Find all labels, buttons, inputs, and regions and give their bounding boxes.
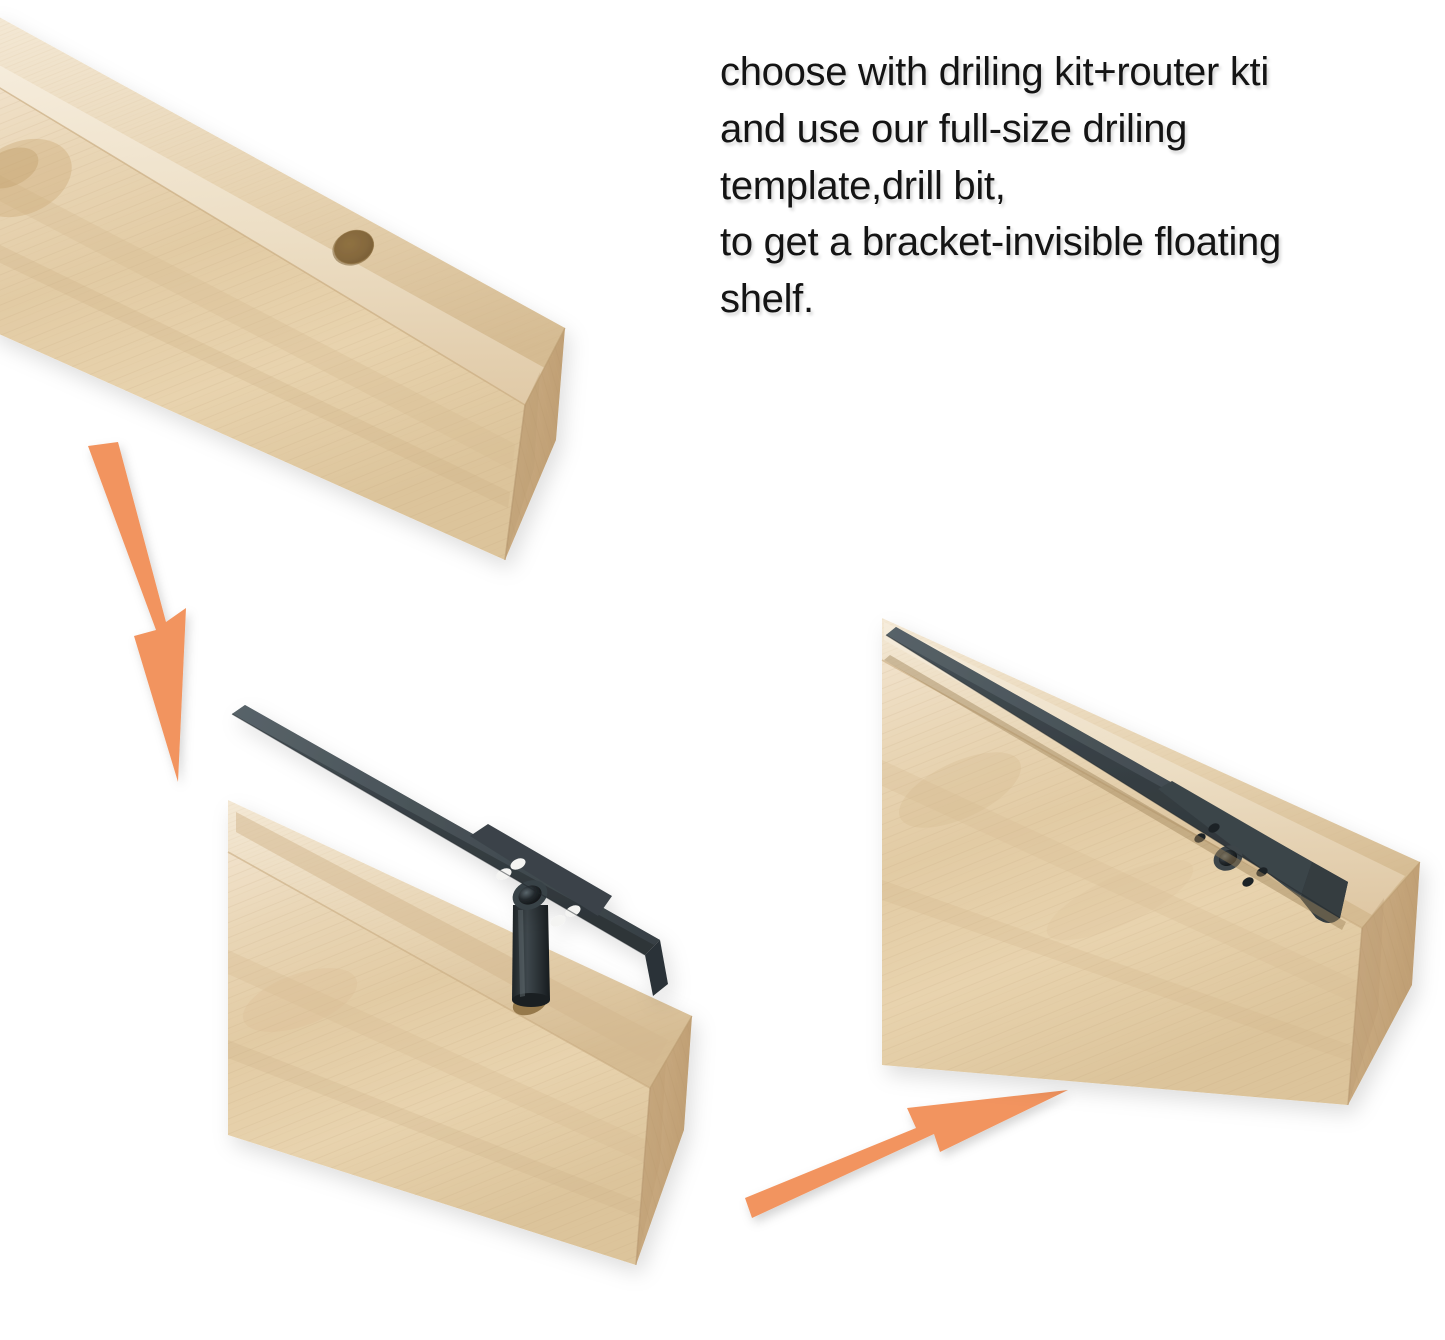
- step-3-bracket-installed: [882, 618, 1420, 1105]
- screw-hole: [549, 913, 568, 929]
- product-instruction-image: choose with driling kit+router kti and u…: [0, 0, 1445, 1340]
- step-2-wood-board: [228, 800, 692, 1265]
- step-1-drilled-shelf-board: [0, 12, 565, 560]
- instruction-text: choose with driling kit+router kti and u…: [720, 44, 1420, 328]
- bracket-rod-pin: [512, 905, 550, 1007]
- step-1-to-step-2-arrow: [88, 442, 186, 782]
- step-2-to-step-3-arrow: [745, 1090, 1068, 1218]
